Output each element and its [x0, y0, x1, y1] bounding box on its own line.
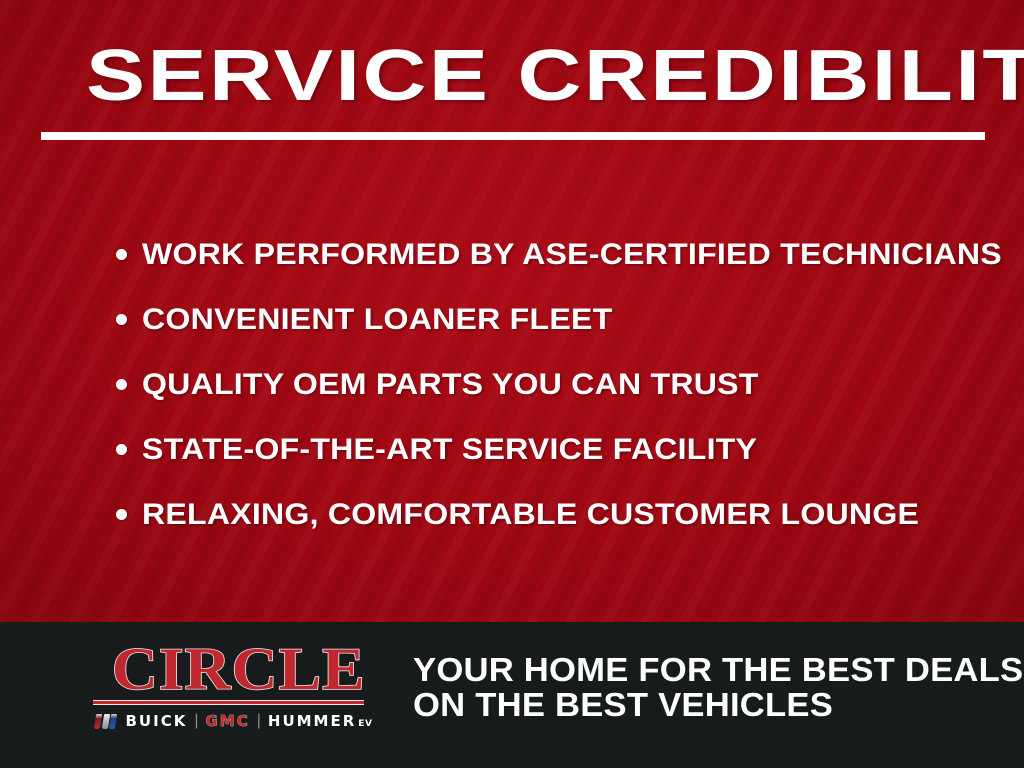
- brand-row: BUICK | GMC | HUMMER EV: [93, 712, 368, 730]
- list-item-label: QUALITY OEM PARTS YOU CAN TRUST: [142, 368, 759, 402]
- list-item: QUALITY OEM PARTS YOU CAN TRUST: [0, 352, 1024, 417]
- tagline-line-2: ON THE BEST VEHICLES: [413, 687, 1022, 722]
- brand-label-hummer: HUMMER: [268, 713, 356, 729]
- brand-label-hummer-ev-suffix: EV: [358, 719, 372, 729]
- list-item: STATE-OF-THE-ART SERVICE FACILITY: [0, 417, 1024, 482]
- bullet-list: WORK PERFORMED BY ASE-CERTIFIED TECHNICI…: [0, 222, 1024, 547]
- list-item-label: RELAXING, COMFORTABLE CUSTOMER LOUNGE: [142, 498, 919, 532]
- title-underline-rule: [41, 132, 985, 140]
- bullet-dot-icon: [116, 444, 127, 455]
- bullet-dot-icon: [116, 379, 127, 390]
- list-item: RELAXING, COMFORTABLE CUSTOMER LOUNGE: [0, 482, 1024, 547]
- page-title: SERVICE CREDIBILITY: [86, 37, 1024, 115]
- brand-label-gmc: GMC: [205, 713, 249, 729]
- list-item-label: CONVENIENT LOANER FLEET: [142, 303, 612, 337]
- list-item: CONVENIENT LOANER FLEET: [0, 287, 1024, 352]
- list-item-label: STATE-OF-THE-ART SERVICE FACILITY: [142, 433, 757, 467]
- shield-segment-blue: [109, 714, 117, 729]
- tagline-line-1: YOUR HOME FOR THE BEST DEALS: [413, 652, 1022, 687]
- slide-canvas: SERVICE CREDIBILITY WORK PERFORMED BY AS…: [0, 0, 1024, 768]
- shield-segment-red: [94, 714, 102, 729]
- bullet-dot-icon: [116, 314, 127, 325]
- dealer-logo: CIRCLE BUICK | GMC | HUMMER EV: [93, 640, 368, 730]
- brand-separator: |: [194, 713, 198, 729]
- list-item-label: WORK PERFORMED BY ASE-CERTIFIED TECHNICI…: [142, 238, 1002, 272]
- footer-tagline: YOUR HOME FOR THE BEST DEALS ON THE BEST…: [413, 652, 993, 722]
- bullet-dot-icon: [116, 249, 127, 260]
- buick-tri-shield-icon: [95, 714, 118, 729]
- brand-separator: |: [257, 713, 261, 729]
- logo-wordmark: CIRCLE: [93, 640, 384, 698]
- list-item: WORK PERFORMED BY ASE-CERTIFIED TECHNICI…: [0, 222, 1024, 287]
- bullet-dot-icon: [116, 509, 127, 520]
- footer-bar: CIRCLE BUICK | GMC | HUMMER EV YOUR HOME: [0, 622, 1024, 768]
- brand-label-buick: BUICK: [126, 713, 188, 729]
- brand-label-hummer-group: HUMMER EV: [268, 713, 373, 729]
